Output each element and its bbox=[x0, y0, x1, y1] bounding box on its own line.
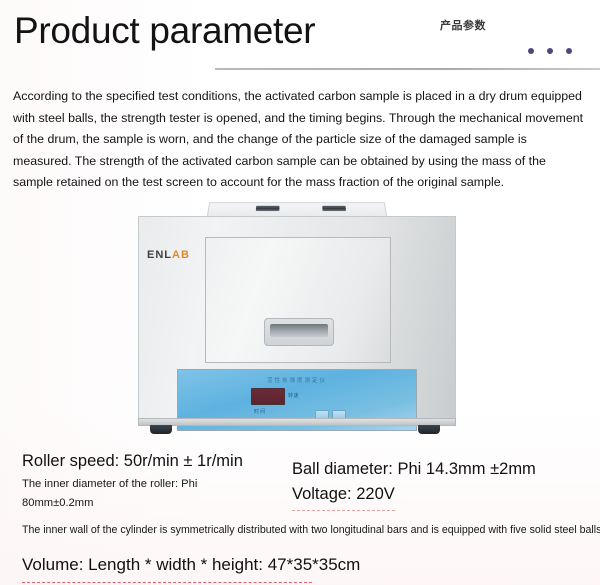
page-header: Product parameter 产品参数 bbox=[0, 0, 600, 78]
spec-ball-diameter: Ball diameter: Phi 14.3mm ±2mm bbox=[292, 457, 600, 482]
led-display bbox=[251, 388, 285, 405]
description-paragraph: According to the specified test conditio… bbox=[0, 78, 600, 194]
machine-body: ENLAB 活性炭强度测定仪 转速 时间 启动 bbox=[138, 216, 456, 422]
lid-hinge-right bbox=[322, 206, 346, 211]
specifications-grid: Roller speed: 50r/min ± 1r/min The inner… bbox=[22, 449, 588, 527]
page-title: Product parameter bbox=[14, 8, 315, 54]
lid-hinge-left bbox=[256, 206, 280, 211]
brand-logo-text: ENL bbox=[147, 249, 172, 261]
brand-logo: ENLAB bbox=[147, 249, 190, 261]
machine-door bbox=[205, 237, 391, 363]
spec-inner-diameter-line-1: The inner diameter of the roller: Phi bbox=[22, 476, 292, 493]
spec-volume: Volume: Length * width * height: 47*35*3… bbox=[22, 553, 360, 578]
dot-3 bbox=[566, 48, 572, 54]
spec-voltage: Voltage: 220V bbox=[292, 482, 395, 507]
machine-illustration: ENLAB 活性炭强度测定仪 转速 时间 启动 bbox=[138, 200, 456, 438]
dot-1 bbox=[528, 48, 534, 54]
machine-base bbox=[138, 418, 456, 426]
machine-foot-right bbox=[418, 425, 440, 434]
three-dots-icon bbox=[528, 48, 572, 54]
specifications-block: Roller speed: 50r/min ± 1r/min The inner… bbox=[0, 449, 600, 578]
dot-2 bbox=[547, 48, 553, 54]
brand-logo-accent: AB bbox=[172, 249, 190, 261]
page-title-chinese: 产品参数 bbox=[440, 17, 486, 33]
specifications-column-right: Ball diameter: Phi 14.3mm ±2mm Voltage: … bbox=[292, 457, 600, 507]
machine-foot-left bbox=[150, 425, 172, 434]
control-panel-title: 活性炭强度测定仪 bbox=[178, 376, 416, 384]
door-handle bbox=[264, 318, 334, 346]
spec-roller-speed: Roller speed: 50r/min ± 1r/min bbox=[22, 449, 292, 474]
led-display-label: 转速 bbox=[288, 392, 299, 399]
specifications-column-left: Roller speed: 50r/min ± 1r/min The inner… bbox=[22, 449, 292, 512]
control-panel-sublabel: 时间 bbox=[254, 408, 266, 415]
product-image: ENLAB 活性炭强度测定仪 转速 时间 启动 bbox=[0, 198, 600, 443]
spec-inner-diameter-line-2: 80mm±0.2mm bbox=[22, 495, 292, 512]
header-divider bbox=[215, 68, 600, 70]
product-parameter-page: Product parameter 产品参数 According to the … bbox=[0, 0, 600, 585]
